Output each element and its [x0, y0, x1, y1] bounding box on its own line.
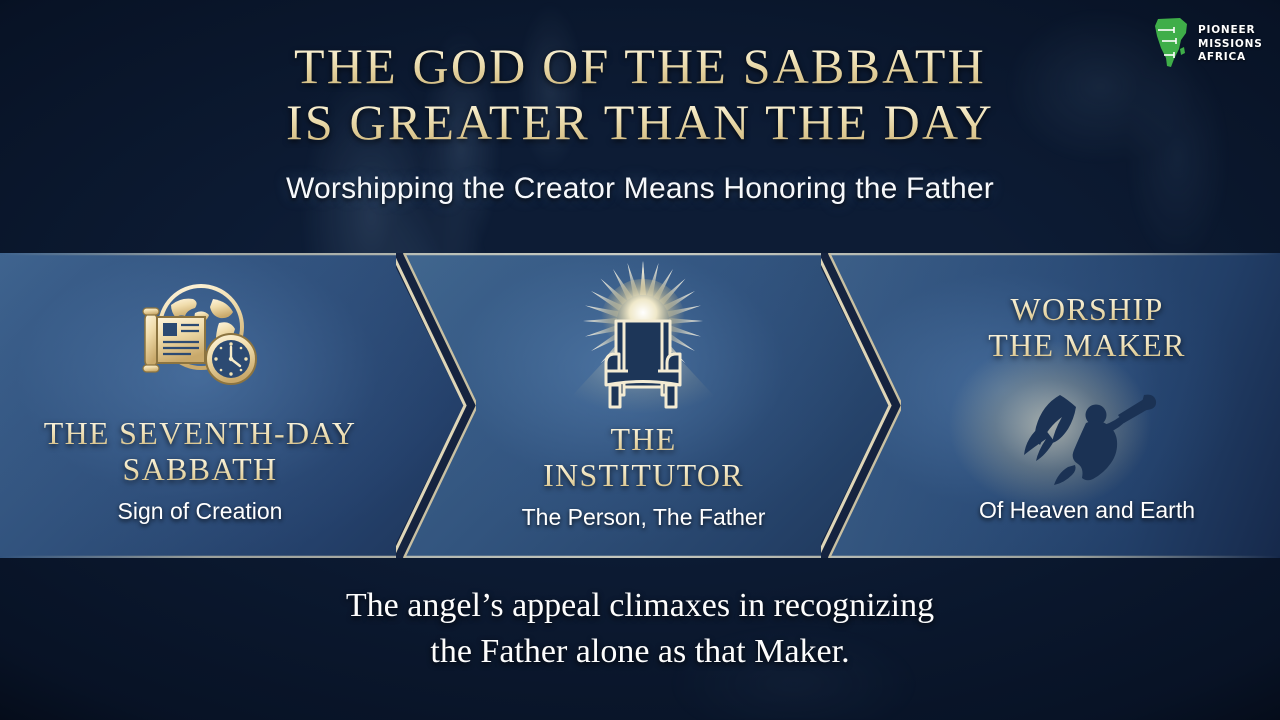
caption-line-2: the Father alone as that Maker. — [0, 629, 1280, 675]
panel-3-title-line-1: WORSHIP — [894, 291, 1280, 327]
title-line-2: IS GREATER THAN THE DAY — [0, 94, 1280, 150]
logo-line-1: PIONEER — [1198, 25, 1263, 36]
panel-3-subtitle-slot: Of Heaven and Earth — [894, 497, 1280, 524]
panel-3-subtitle: Of Heaven and Earth — [894, 497, 1280, 524]
globe-scroll-clock-icon — [0, 275, 400, 395]
logo-line-2: MISSIONS — [1198, 39, 1263, 50]
panel-2-icon-slot — [467, 259, 820, 424]
slide-canvas: PIONEER MISSIONS AFRICA THE GOD OF THE S… — [0, 0, 1280, 720]
caption-line-1: The angel’s appeal climaxes in recognizi… — [0, 583, 1280, 629]
title-line-1: THE GOD OF THE SABBATH — [0, 38, 1280, 94]
page-subtitle: Worshipping the Creator Means Honoring t… — [0, 172, 1280, 206]
panel-2-title-line-1: THE — [467, 421, 820, 457]
page-title: THE GOD OF THE SABBATH IS GREATER THAN T… — [0, 38, 1280, 150]
panel-worship-the-maker[interactable]: WORSHIP THE MAKER — [820, 253, 1280, 558]
africa-map-icon — [1150, 15, 1194, 73]
panel-2-subtitle: The Person, The Father — [467, 504, 820, 531]
band-bottom-edge — [0, 556, 1280, 558]
panel-2-title-line-2: INSTITUTOR — [467, 457, 820, 493]
panel-1-subtitle: Sign of Creation — [0, 498, 400, 525]
panel-1-title-line-2: SABBATH — [0, 451, 400, 487]
panel-1-title-line-1: THE SEVENTH-DAY — [0, 415, 400, 451]
process-band: THE SEVENTH-DAY SABBATH Sign of Creation — [0, 253, 1280, 558]
pioneer-missions-africa-logo: PIONEER MISSIONS AFRICA — [1150, 8, 1268, 80]
radiant-throne-icon — [467, 259, 820, 424]
logo-line-3: AFRICA — [1198, 52, 1263, 63]
bottom-caption: The angel’s appeal climaxes in recognizi… — [0, 583, 1280, 675]
panel-3-title-line-2: THE MAKER — [894, 327, 1280, 363]
panel-2-text: THE INSTITUTOR The Person, The Father — [467, 421, 820, 531]
band-top-edge — [0, 253, 1280, 255]
angel-trumpet-icon — [894, 381, 1280, 493]
logo-wordmark: PIONEER MISSIONS AFRICA — [1198, 25, 1263, 63]
panel-3-text: WORSHIP THE MAKER — [894, 291, 1280, 364]
panel-3-icon-slot — [894, 381, 1280, 493]
